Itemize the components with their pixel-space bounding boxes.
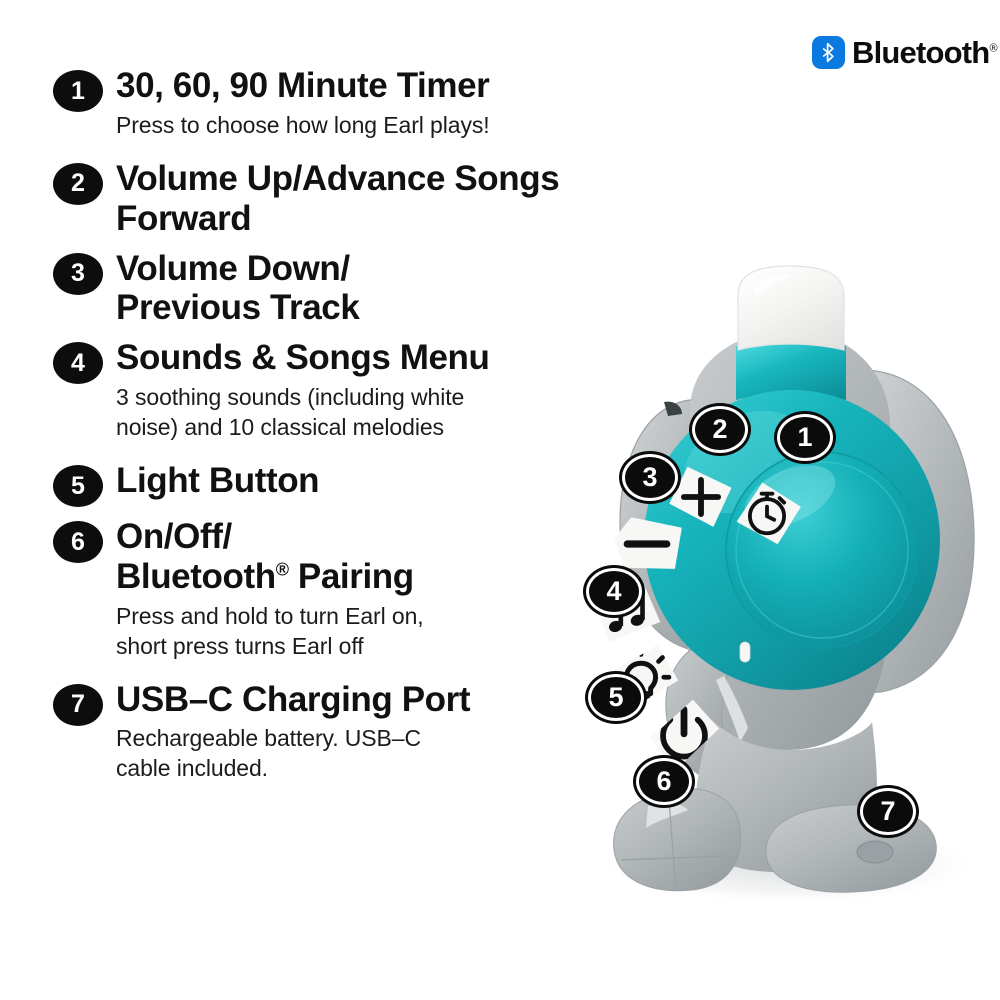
product-callout-3[interactable]: 3 [622,454,678,501]
product-callout-5[interactable]: 5 [588,674,644,721]
bluetooth-wordmark-text: Bluetooth [852,35,989,70]
registered-trademark-symbol: ® [276,559,289,579]
product-callout-6[interactable]: 6 [636,758,692,805]
feature-badge-2: 2 [53,163,103,205]
product-callout-4[interactable]: 4 [586,568,642,615]
feature-badge-6: 6 [53,521,103,563]
feature-badge-4: 4 [53,342,103,384]
feature-badge-3: 3 [53,253,103,295]
feature-title-2: Volume Up/Advance Songs Forward [116,159,673,239]
feature-title-6-line2-tail: Pairing [289,557,414,596]
product-image: 1 2 3 4 5 6 7 [540,250,1000,950]
feature-badge-5: 5 [53,465,103,507]
feature-badge-7: 7 [53,684,103,726]
product-callout-2[interactable]: 2 [692,406,748,453]
led-indicator [740,642,750,662]
feature-item-1: 1 30, 60, 90 Minute Timer Press to choos… [53,66,673,141]
feature-desc-1: Press to choose how long Earl plays! [116,111,673,141]
feature-item-2: 2 Volume Up/Advance Songs Forward [53,159,673,239]
feature-title-1: 30, 60, 90 Minute Timer [116,66,673,106]
product-callout-1[interactable]: 1 [777,414,833,461]
registered-trademark-symbol: ® [989,43,996,55]
product-feature-infographic: Bluetooth® 1 30, 60, 90 Minute Timer Pre… [0,0,1000,1000]
bluetooth-rune-icon [812,36,845,69]
feature-title-6-line2: Bluetooth [116,557,276,596]
product-callout-7[interactable]: 7 [860,788,916,835]
feature-badge-1: 1 [53,70,103,112]
elephant-foot-left [614,789,741,891]
bluetooth-logo: Bluetooth® [812,36,997,69]
night-light-dome [738,266,844,350]
feature-title-6-line1: On/Off/ [116,517,232,556]
bluetooth-wordmark: Bluetooth® [852,37,997,68]
usb-c-charging-port [857,841,893,863]
